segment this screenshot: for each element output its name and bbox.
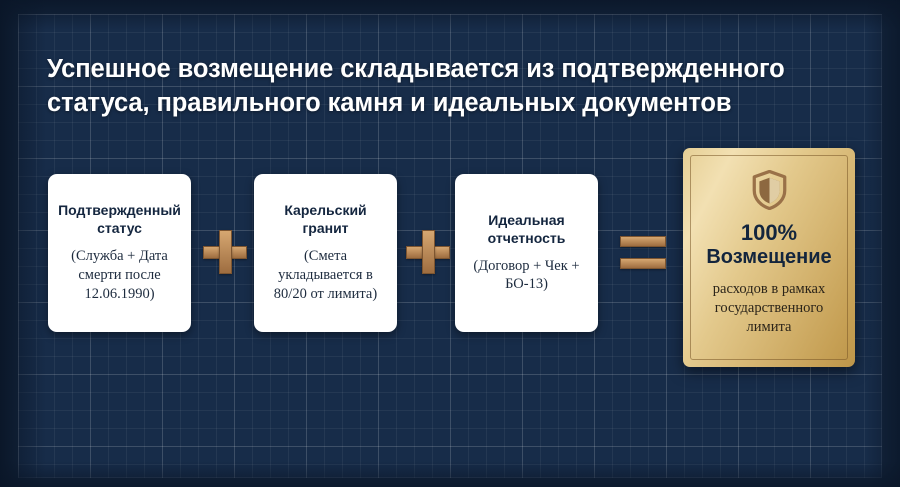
formula-card-karelian-granite: Карельский гранит (Смета укладывается в … — [254, 174, 397, 332]
result-headline: 100% Возмещение — [706, 220, 831, 270]
card-subtitle: (Смета укладывается в 80/20 от лимита) — [263, 247, 388, 304]
equals-operator-icon — [620, 236, 666, 269]
page-title: Успешное возмещение складывается из подт… — [47, 53, 837, 121]
slide-root: Успешное возмещение складывается из подт… — [0, 0, 900, 487]
card-subtitle: (Договор + Чек + БО-13) — [464, 257, 589, 295]
equals-bottom-bar — [620, 258, 666, 269]
result-card-full-reimbursement: 100% Возмещение расходов в рамках госуда… — [683, 148, 855, 367]
result-subtitle: расходов в рамках государственного лимит… — [695, 280, 843, 337]
card-title: Подтвержденный статус — [57, 202, 182, 238]
equals-top-bar — [620, 236, 666, 247]
plus-vertical-bar — [219, 230, 232, 274]
result-percent: 100% — [706, 220, 831, 246]
plus-operator-icon — [406, 230, 450, 274]
card-title: Идеальная отчетность — [464, 212, 589, 248]
card-title: Карельский гранит — [263, 202, 388, 238]
plus-vertical-bar — [422, 230, 435, 274]
result-headline-word: Возмещение — [706, 246, 831, 270]
formula-card-ideal-reporting: Идеальная отчетность (Договор + Чек + БО… — [455, 174, 598, 332]
card-subtitle: (Служба + Дата смерти после 12.06.1990) — [57, 247, 182, 304]
plus-operator-icon — [203, 230, 247, 274]
formula-card-confirmed-status: Подтвержденный статус (Служба + Дата сме… — [48, 174, 191, 332]
shield-icon — [752, 170, 787, 210]
